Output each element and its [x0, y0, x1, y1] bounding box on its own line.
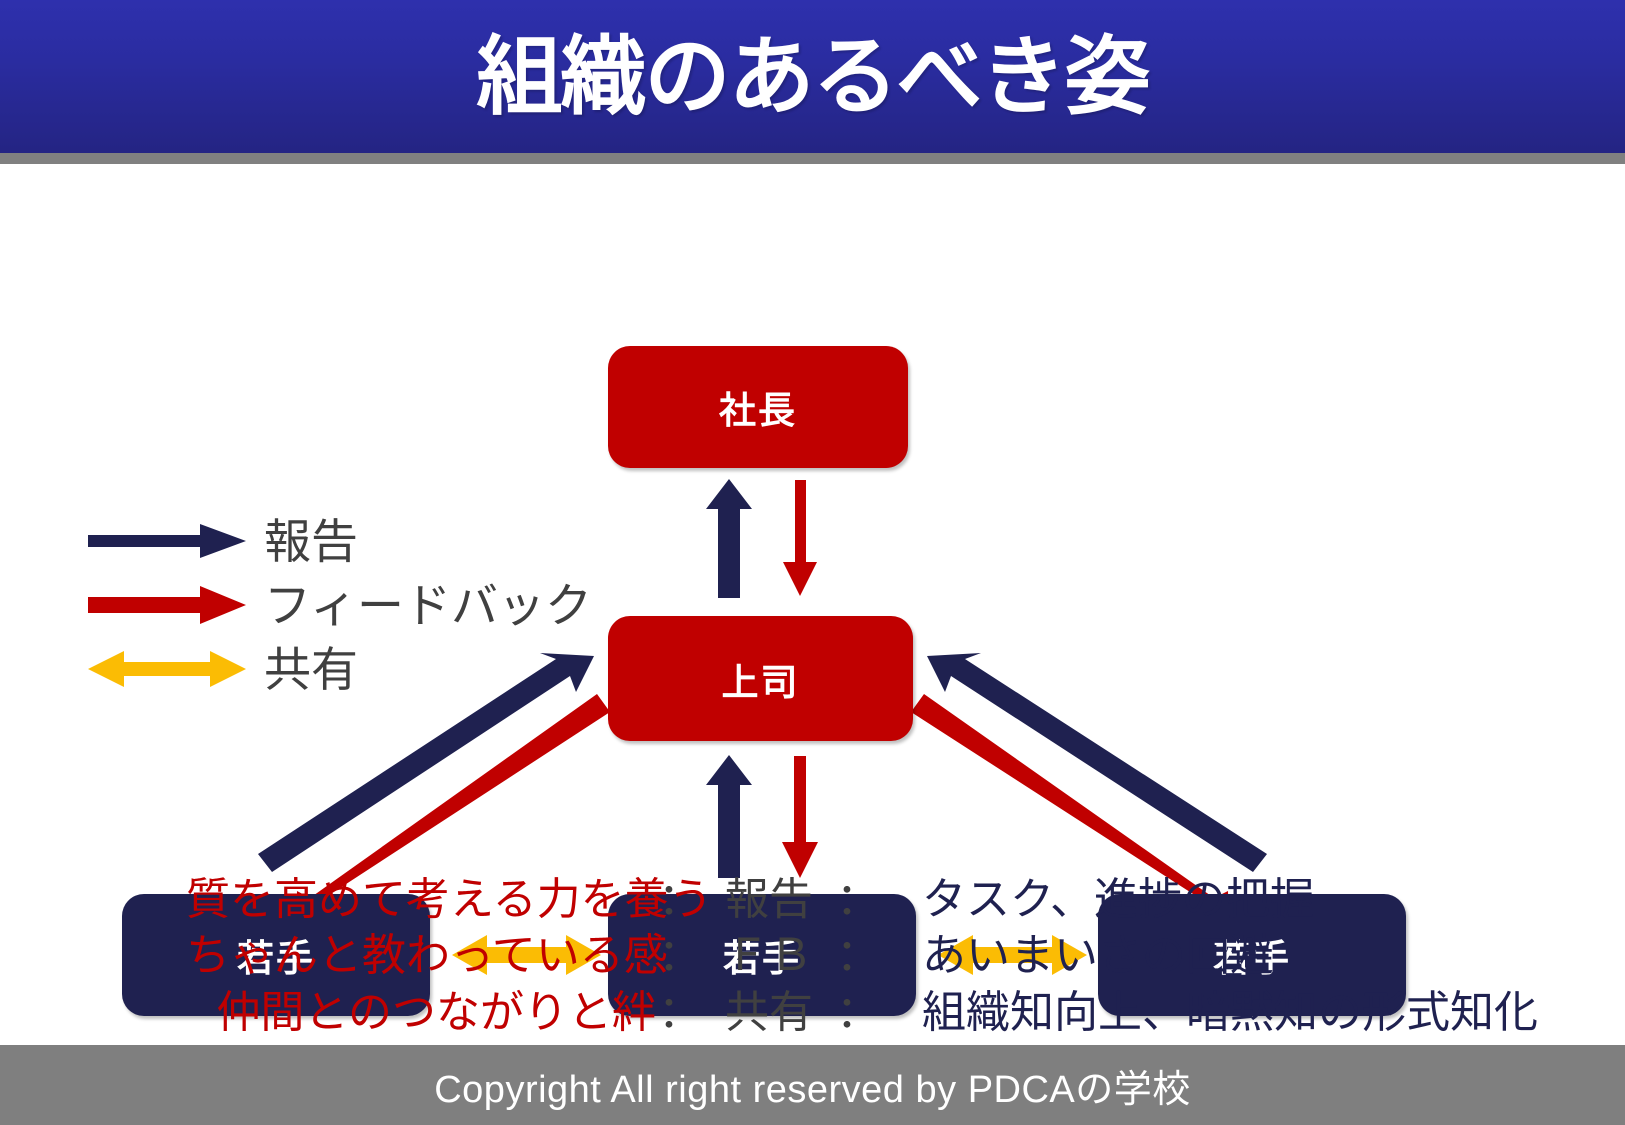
arrow-right-icon: [88, 521, 246, 561]
edge-boss-to-junior-center-feedback: [782, 756, 818, 878]
summary-benefit: 仲間とのつながりと絆: [186, 985, 656, 1041]
legend: 報告 フィードバック 共有: [88, 509, 558, 701]
legend-label-share: 共有: [264, 646, 358, 693]
edge-president-to-boss-feedback: [783, 480, 817, 596]
edge-boss-to-president-report: [706, 479, 752, 598]
node-president[interactable]: 社長: [608, 346, 908, 468]
summary-separator: ：: [656, 928, 704, 984]
summary-row: 質を高めて考える力を養う ： 報告 ： タスク、進捗の把握: [0, 872, 1625, 928]
summary-detail: あいまいさの回避: [922, 928, 1274, 984]
node-boss[interactable]: 上司: [608, 616, 913, 741]
summary-kind: 報告: [704, 872, 834, 928]
summary-separator: ：: [834, 985, 882, 1041]
summary-kind: ＦＢ: [704, 928, 834, 984]
arrow-left-right-icon: [88, 649, 246, 689]
legend-item-feedback: フィードバック: [88, 573, 558, 637]
node-boss-label: 上司: [722, 652, 800, 706]
summary-separator: ：: [656, 985, 704, 1041]
summary-benefit: 質を高めて考える力を養う: [186, 872, 656, 928]
edge-junior-center-to-boss-report: [706, 755, 752, 878]
title-banner: 組織のあるべき姿: [0, 0, 1625, 153]
summary-row: ちゃんと教わっている感 ： ＦＢ ： あいまいさの回避: [0, 928, 1625, 984]
title-divider: [0, 153, 1625, 164]
summary-separator: ：: [656, 872, 704, 928]
summary-separator: ：: [834, 872, 882, 928]
node-president-label: 社長: [719, 380, 797, 434]
footer-bar: Copyright All right reserved by PDCAの学校: [0, 1045, 1625, 1125]
legend-label-feedback: フィードバック: [264, 582, 592, 629]
footer-copyright: Copyright All right reserved by PDCAの学校: [434, 1058, 1191, 1113]
summary-kind: 共有: [704, 985, 834, 1041]
summary-benefit: ちゃんと教わっている感: [186, 928, 656, 984]
summary-detail: タスク、進捗の把握: [922, 872, 1314, 928]
legend-item-share: 共有: [88, 637, 558, 701]
summary-table: 質を高めて考える力を養う ： 報告 ： タスク、進捗の把握 ちゃんと教わっている…: [0, 872, 1625, 1041]
page-title: 組織のあるべき姿: [0, 0, 1625, 153]
legend-label-report: 報告: [264, 518, 358, 565]
arrow-right-icon: [88, 585, 246, 625]
summary-row: 仲間とのつながりと絆 ： 共有 ： 組織知向上、暗黙知の形式知化: [0, 985, 1625, 1041]
legend-item-report: 報告: [88, 509, 558, 573]
edge-junior-right-to-boss-report: [927, 653, 1267, 872]
summary-detail: 組織知向上、暗黙知の形式知化: [922, 985, 1538, 1041]
summary-separator: ：: [834, 928, 882, 984]
